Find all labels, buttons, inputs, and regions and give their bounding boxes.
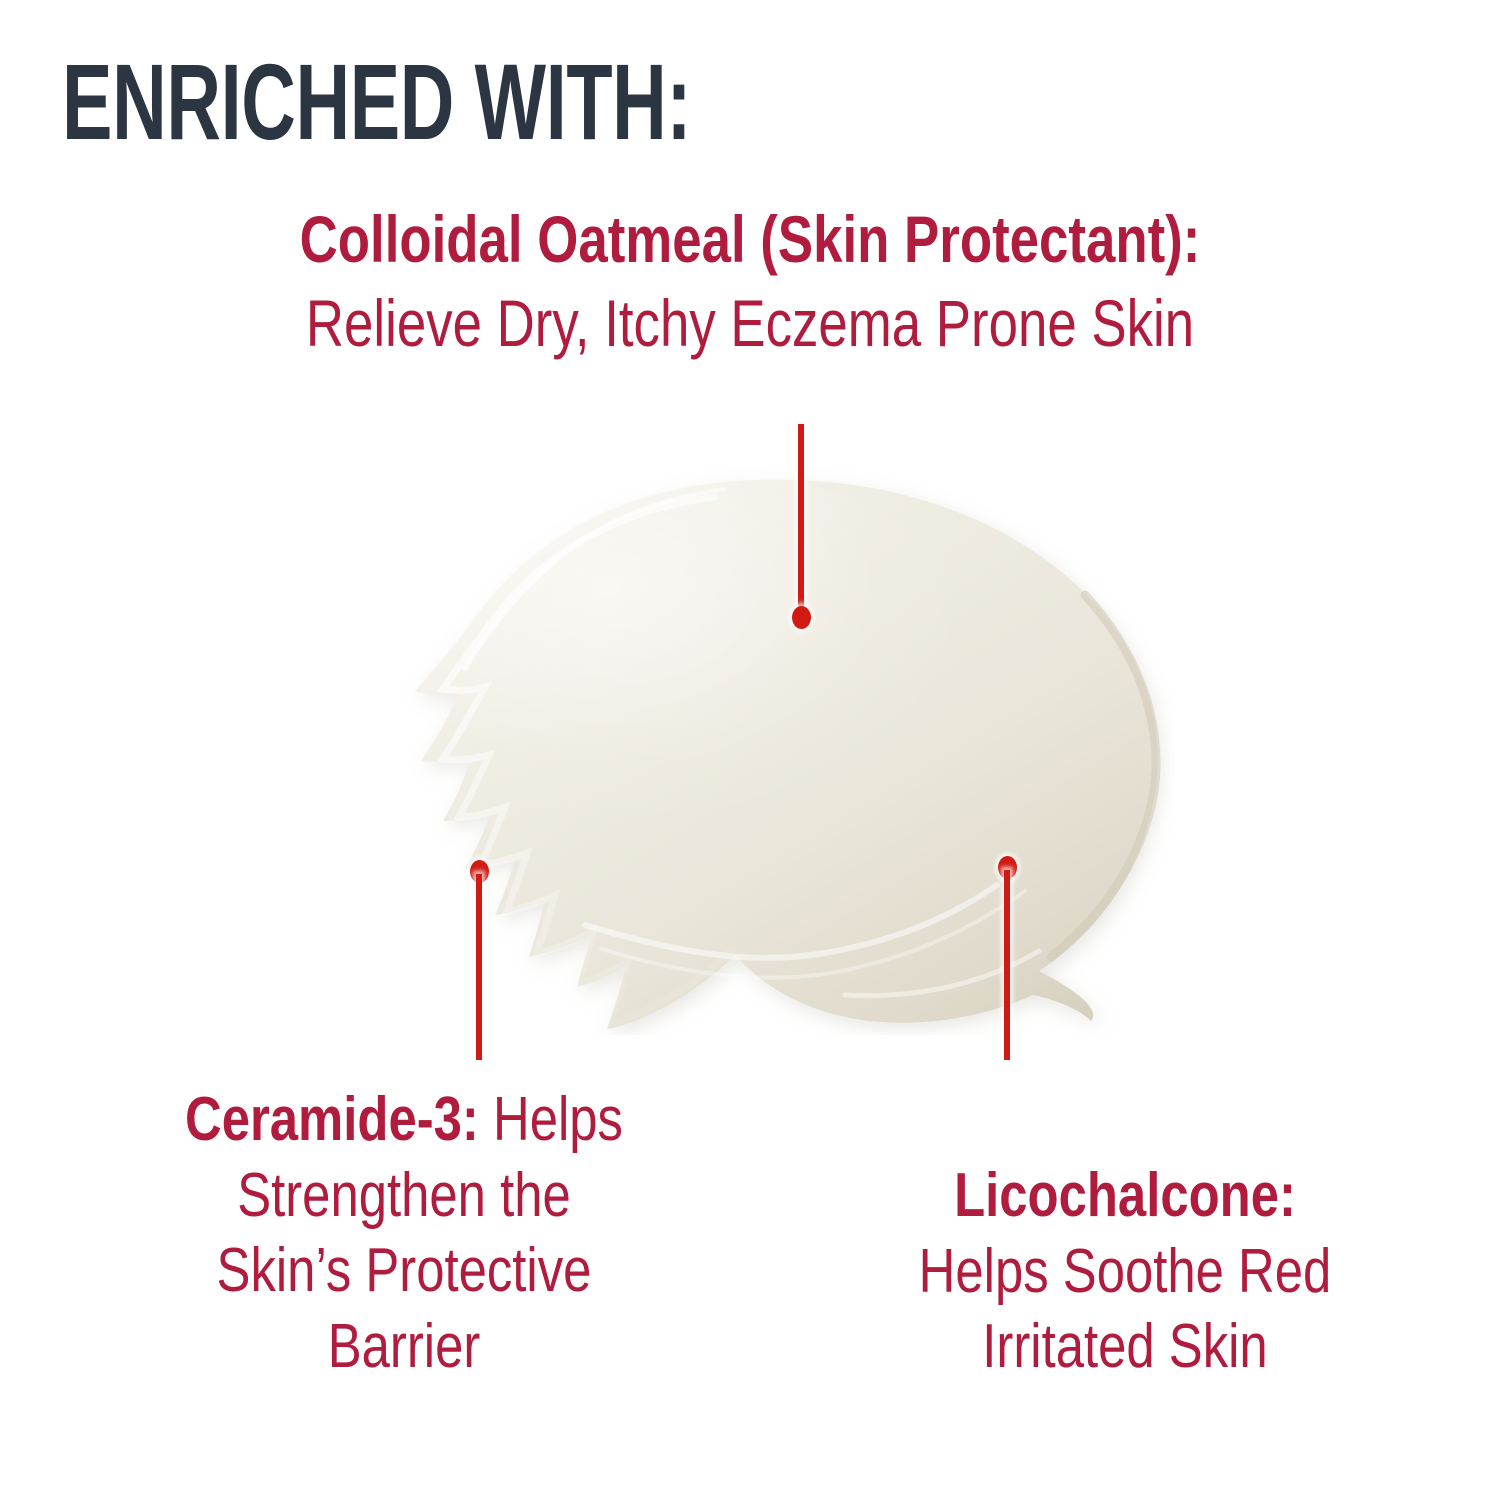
pointer-line-colloidal-oatmeal <box>791 424 811 634</box>
ceramide-line-4: Barrier <box>92 1309 715 1385</box>
page-title: ENRICHED WITH: <box>62 48 1028 156</box>
ceramide-benefit-word-1: Helps <box>479 1085 623 1154</box>
pointer-stem <box>476 874 482 1060</box>
ceramide-line-2: Strengthen the <box>92 1158 715 1234</box>
pointer-dot <box>792 606 811 629</box>
ingredient-name-colloidal-oatmeal: Colloidal Oatmeal (Skin Protectant): <box>150 198 1350 281</box>
licochalcone-line-3: Irritated Skin <box>838 1309 1412 1385</box>
ingredient-callout-ceramide-3: Ceramide-3: Helps Strengthen the Skin’s … <box>24 1082 784 1385</box>
licochalcone-line-1: Licochalcone: <box>838 1158 1412 1234</box>
ceramide-line-3: Skin’s Protective <box>92 1233 715 1309</box>
pointer-line-ceramide-3 <box>469 860 489 1065</box>
pointer-stem <box>1004 870 1010 1060</box>
ingredient-name-licochalcone: Licochalcone: <box>954 1161 1296 1230</box>
infographic-canvas: ENRICHED WITH: Colloidal Oatmeal (Skin P… <box>0 0 1500 1500</box>
ceramide-line-1: Ceramide-3: Helps <box>92 1082 715 1158</box>
cream-swatch <box>285 455 1175 1035</box>
pointer-stem <box>798 424 804 614</box>
licochalcone-line-2: Helps Soothe Red <box>838 1234 1412 1310</box>
ingredient-benefit-colloidal-oatmeal: Relieve Dry, Itchy Eczema Prone Skin <box>150 281 1350 365</box>
ingredient-name-ceramide-3: Ceramide-3: <box>185 1085 479 1154</box>
pointer-line-licochalcone <box>997 856 1017 1064</box>
ingredient-callout-colloidal-oatmeal: Colloidal Oatmeal (Skin Protectant): Rel… <box>0 198 1500 366</box>
ingredient-callout-licochalcone: Licochalcone: Helps Soothe Red Irritated… <box>775 1158 1475 1385</box>
